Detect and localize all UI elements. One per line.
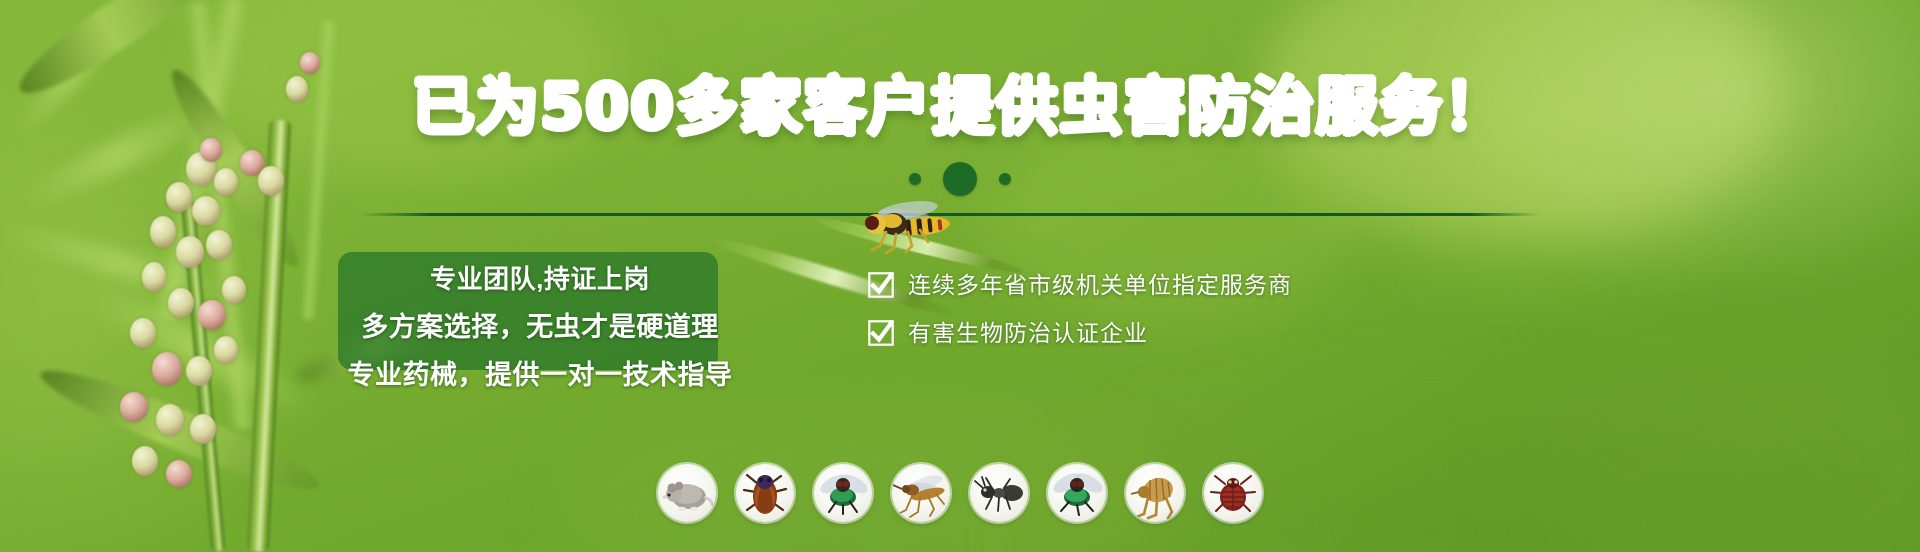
background-shadow-glow xyxy=(980,352,1880,552)
rodent-icon[interactable] xyxy=(658,464,716,522)
fly-green-icon[interactable] xyxy=(1048,464,1106,522)
checkbox-checked-icon xyxy=(868,272,894,298)
checklist-item: 连续多年省市级机关单位指定服务商 xyxy=(868,272,1292,298)
fly-icon[interactable] xyxy=(814,464,872,522)
banner-headline-text: 已为500多家客户提供虫害防治服务！ xyxy=(412,70,1507,143)
background-highlight-glow xyxy=(1400,0,1920,300)
flea-icon[interactable] xyxy=(1126,464,1184,522)
hoverfly-icon xyxy=(846,196,966,260)
ant-icon[interactable] xyxy=(970,464,1028,522)
pest-icon-row xyxy=(0,464,1920,522)
checklist-item-label: 有害生物防治认证企业 xyxy=(908,320,1148,346)
bedbug-icon[interactable] xyxy=(1204,464,1262,522)
checkbox-checked-icon xyxy=(868,320,894,346)
dot-small-icon xyxy=(909,173,921,185)
checklist: 连续多年省市级机关单位指定服务商 有害生物防治认证企业 xyxy=(868,272,1292,346)
checklist-item: 有害生物防治认证企业 xyxy=(868,320,1292,346)
dot-small-icon xyxy=(999,173,1011,185)
checklist-item-label: 连续多年省市级机关单位指定服务商 xyxy=(908,272,1292,298)
pest-control-hero-banner: 已为500多家客户提供虫害防治服务！ 专业团队,持证上岗 多方案选择，无虫才是硬… xyxy=(0,0,1920,552)
dot-large-icon xyxy=(943,162,977,196)
background-bokeh-blob xyxy=(1260,0,1780,240)
cockroach-icon[interactable] xyxy=(736,464,794,522)
info-panel-background xyxy=(338,252,718,370)
mosquito-icon[interactable] xyxy=(892,464,950,522)
